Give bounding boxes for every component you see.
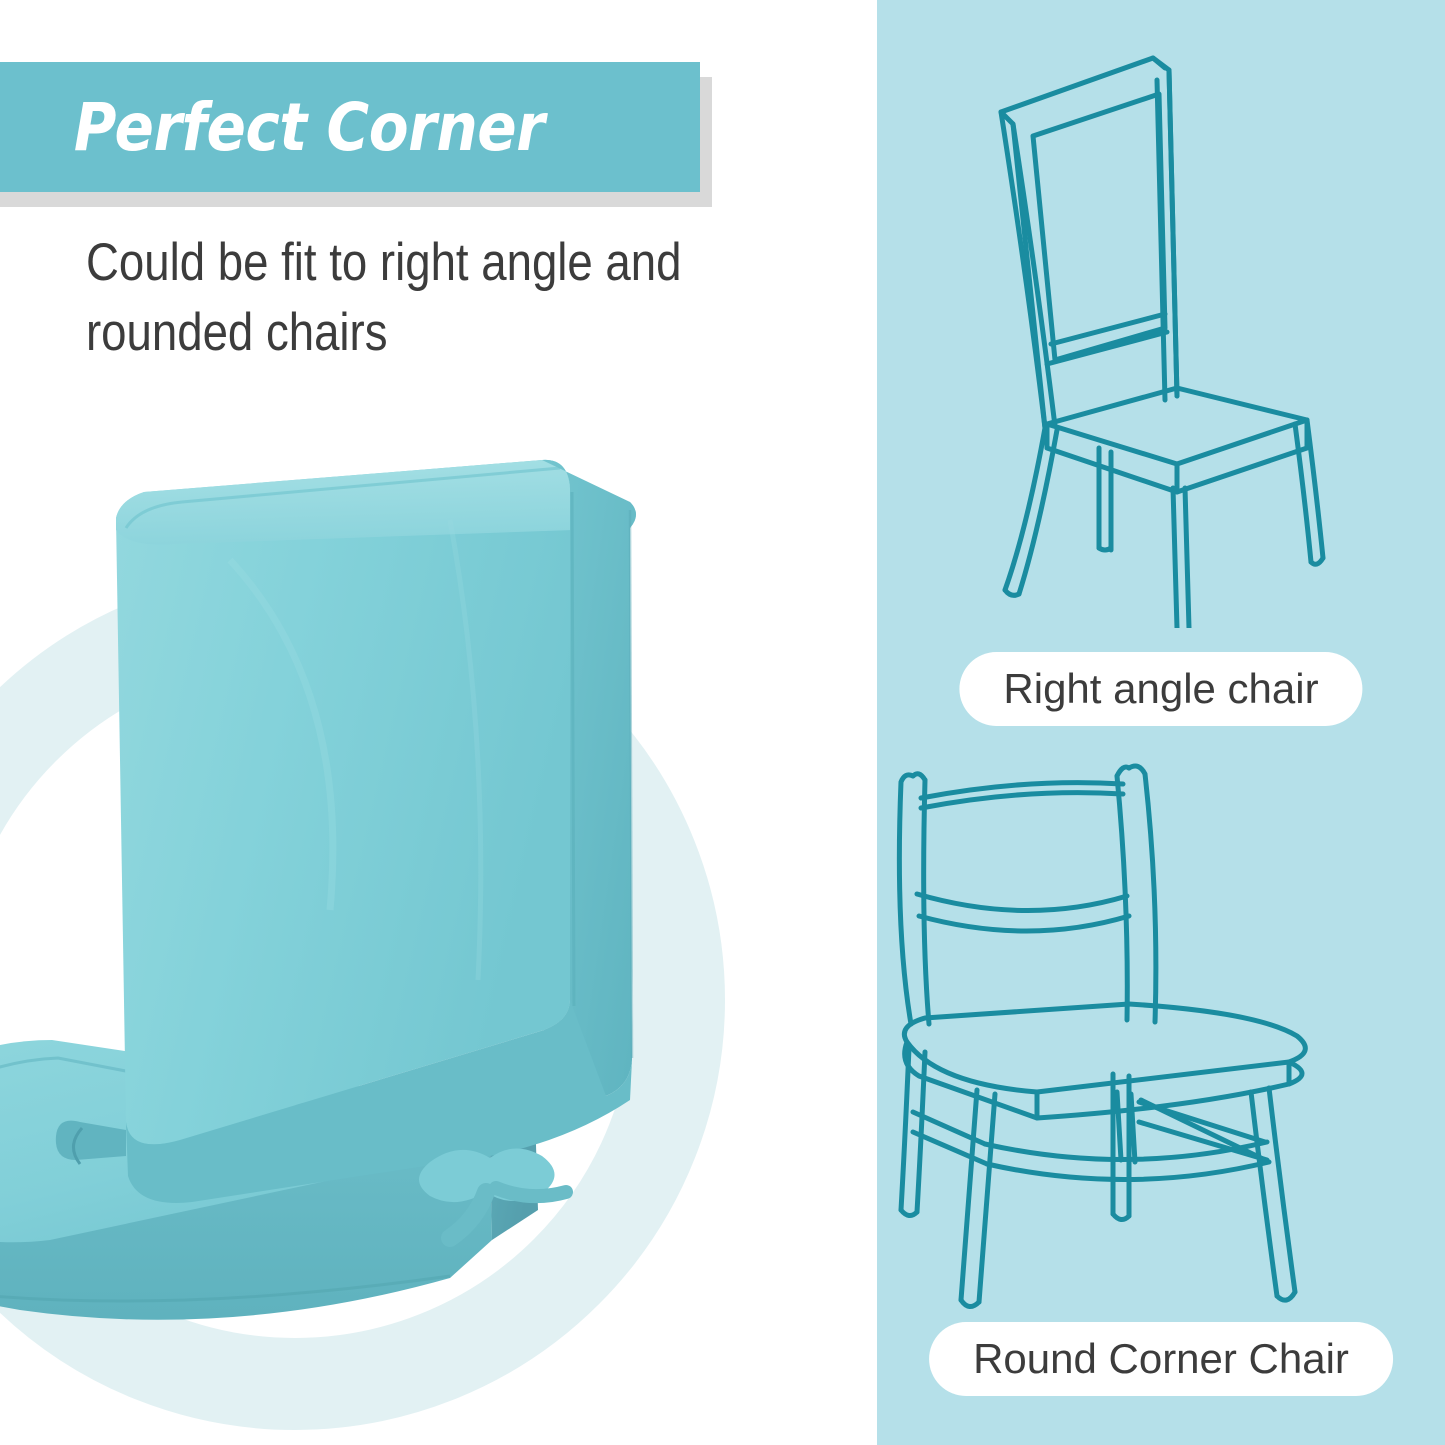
infographic-root: Perfect Corner Could be fit to right ang… <box>0 0 1445 1445</box>
chair-cushion-product-image <box>0 440 650 1340</box>
round-corner-chair-illustration <box>877 740 1445 1330</box>
page-title: Perfect Corner <box>0 89 544 166</box>
label-round-corner-chair: Round Corner Chair <box>929 1322 1393 1396</box>
subtitle-text: Could be fit to right angle and rounded … <box>86 228 748 368</box>
cushion-backrest-section <box>116 460 636 1203</box>
label-round-corner-chair-text: Round Corner Chair <box>973 1335 1349 1383</box>
right-illustration-panel: Right angle chair <box>877 0 1445 1445</box>
left-content-panel: Perfect Corner Could be fit to right ang… <box>0 0 877 1445</box>
label-right-angle-chair: Right angle chair <box>959 652 1362 726</box>
label-right-angle-chair-text: Right angle chair <box>1003 665 1318 713</box>
right-angle-chair-illustration <box>877 28 1445 628</box>
title-banner: Perfect Corner <box>0 62 700 192</box>
